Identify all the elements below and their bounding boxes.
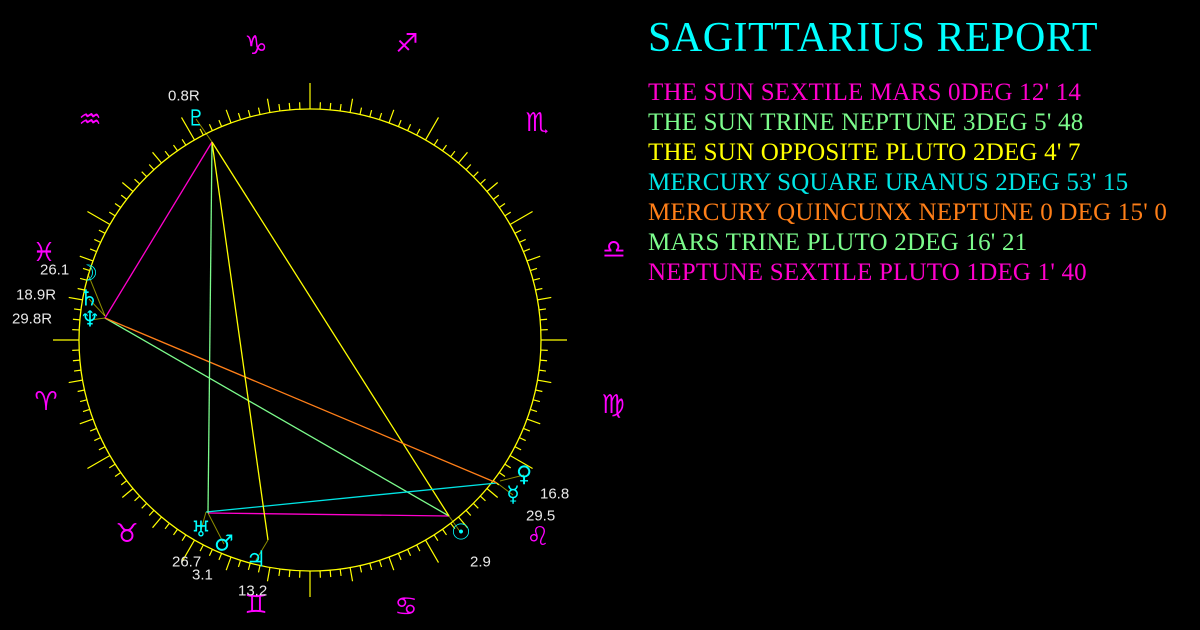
planet-degree-label-neptune: 29.8R	[12, 311, 52, 328]
aspect-line-pluto-jupiter-line	[212, 142, 268, 540]
zodiac-virgo-icon: ♍	[601, 390, 624, 420]
aspect-list: THE SUN SEXTILE MARS 0DEG 12' 14THE SUN …	[648, 78, 1198, 288]
zodiac-sagittarius-icon: ♐	[395, 29, 418, 59]
aspect-line-neptune-sextile-pluto	[105, 142, 212, 318]
zodiac-libra-icon: ♎	[602, 235, 625, 265]
natal-chart-wheel: ♑♐♏♎♍♌♋♊♉♈♓♒ ♇0.8R☽26.1♄18.9R♆29.8R♅26.7…	[0, 0, 645, 630]
aspect-line-mercury-quincunx-neptune	[105, 318, 497, 483]
planet-degree-label-mars: 3.1	[192, 567, 213, 584]
zodiac-leo-icon: ♌	[526, 522, 549, 552]
aspect-line-sun-opposite-pluto	[212, 142, 449, 516]
wheel-svg: ♑♐♏♎♍♌♋♊♉♈♓♒ ♇0.8R☽26.1♄18.9R♆29.8R♅26.7…	[0, 0, 645, 630]
zodiac-capricorn-icon: ♑	[244, 31, 267, 61]
zodiac-aries-icon: ♈	[34, 387, 57, 417]
zodiac-scorpio-icon: ♏	[525, 108, 548, 138]
aspect-line-sun-sextile-mars	[208, 513, 449, 516]
planet-venus-icon: ♀	[516, 463, 532, 488]
astrology-report-page: ♑♐♏♎♍♌♋♊♉♈♓♒ ♇0.8R☽26.1♄18.9R♆29.8R♅26.7…	[0, 0, 1200, 630]
planet-degree-label-mercury: 29.5	[526, 508, 555, 525]
aspect-row: THE SUN SEXTILE MARS 0DEG 12' 14	[648, 78, 1198, 108]
planet-mars-icon: ♂	[214, 532, 234, 557]
planet-moon-icon: ☽	[78, 262, 98, 287]
zodiac-taurus-icon: ♉	[115, 519, 138, 549]
zodiac-aquarius-icon: ♒	[78, 105, 101, 135]
aspect-lines-group	[105, 142, 497, 540]
zodiac-cancer-icon: ♋	[394, 592, 417, 622]
page-title: SAGITTARIUS REPORT	[648, 17, 1098, 59]
aspect-line-sun-trine-neptune	[105, 318, 449, 516]
aspect-line-mercury-square-uranus	[206, 483, 497, 512]
planet-neptune-icon: ♆	[80, 308, 100, 333]
planet-degree-label-moon: 26.1	[40, 262, 69, 279]
planet-uranus-icon: ♅	[191, 518, 211, 543]
aspect-line-mars-trine-pluto	[208, 142, 212, 513]
aspect-row: THE SUN OPPOSITE PLUTO 2DEG 4' 7	[648, 138, 1198, 168]
planet-degree-label-venus: 16.8	[540, 486, 569, 503]
planet-sun-icon: ☉	[451, 521, 471, 546]
aspect-row: MERCURY SQUARE URANUS 2DEG 53' 15	[648, 168, 1198, 198]
planet-degree-label-jupiter: 13.2	[238, 583, 267, 600]
planet-degree-label-sun: 2.9	[470, 554, 491, 571]
planet-glyph-group: ♇0.8R☽26.1♄18.9R♆29.8R♅26.7♂3.1♃13.2☉2.9…	[12, 88, 569, 600]
planet-pluto-icon: ♇	[186, 107, 206, 132]
aspect-row: MARS TRINE PLUTO 2DEG 16' 21	[648, 228, 1198, 258]
report-panel: SAGITTARIUS REPORT THE SUN SEXTILE MARS …	[645, 0, 1200, 630]
aspect-row: NEPTUNE SEXTILE PLUTO 1DEG 1' 40	[648, 258, 1198, 288]
aspect-row: MERCURY QUINCUNX NEPTUNE 0 DEG 15' 0	[648, 198, 1198, 228]
planet-jupiter-icon: ♃	[246, 548, 266, 573]
planet-degree-label-pluto: 0.8R	[168, 88, 200, 105]
planet-degree-label-saturn: 18.9R	[16, 287, 56, 304]
aspect-row: THE SUN TRINE NEPTUNE 3DEG 5' 48	[648, 108, 1198, 138]
